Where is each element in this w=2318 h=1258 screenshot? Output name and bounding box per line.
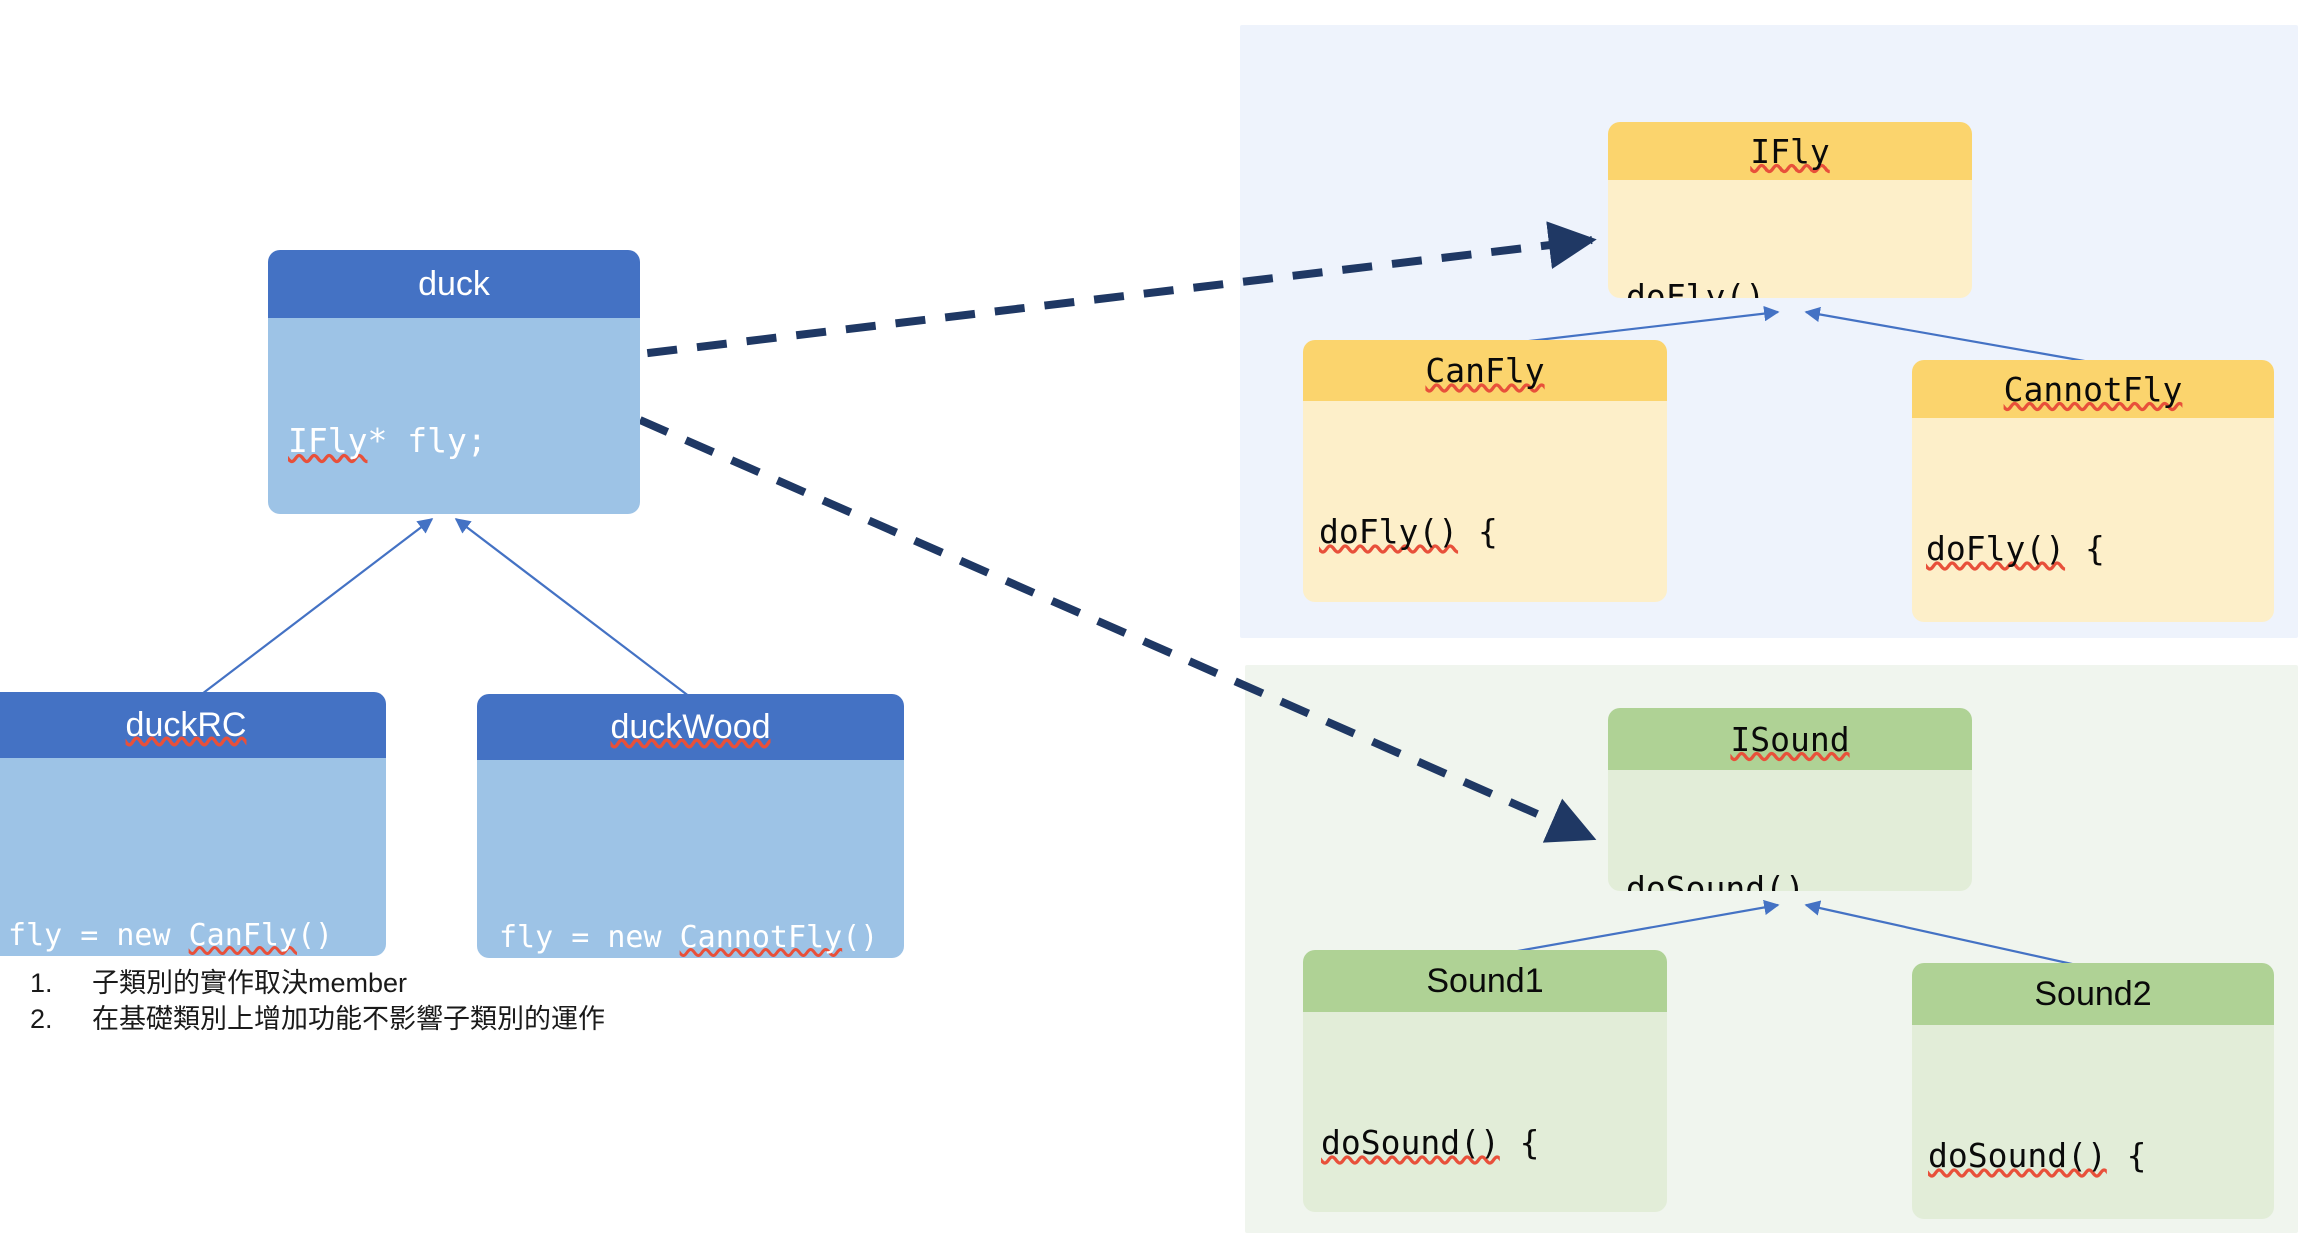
class-members-duckrc: fly = new CanFly() [0,758,386,956]
class-box-ifly[interactable]: IFly doFly() … [1608,122,1972,298]
class-box-canfly[interactable]: CanFly doFly() { “Can fly” } [1303,340,1667,602]
class-title-duck: duck [268,250,640,318]
class-box-duck[interactable]: duck IFly* fly; Isound* sound; … [268,250,640,514]
class-members-ifly: doFly() … [1608,180,1972,298]
class-title-sound1: Sound1 [1303,950,1667,1012]
edge-duckwood-to-duck [456,519,690,697]
class-members-isound: doSound() … [1608,770,1972,891]
class-members-canfly: doFly() { “Can fly” } [1303,401,1667,602]
member-line: fly = new CanFly() [8,916,386,955]
class-box-cannotfly[interactable]: CannotFly doFly() { “Cannot fly” } [1912,360,2274,622]
class-members-duck: IFly* fly; Isound* sound; … [268,318,640,514]
class-box-duckrc[interactable]: duckRC fly = new CanFly() [0,692,386,956]
note-item: 2. 在基礎類別上增加功能不影響子類別的運作 [30,1002,790,1038]
class-title-isound: ISound [1608,708,1972,770]
class-members-sound2: doSound() { “Sound2” } [1912,1025,2274,1219]
class-box-sound2[interactable]: Sound2 doSound() { “Sound2” } [1912,963,2274,1219]
member-line: fly = new CannotFly() [499,918,904,957]
class-members-sound1: doSound() { “Sound1” } [1303,1012,1667,1212]
member-line: doSound() [1626,868,1972,891]
note-text: 子類別的實作取決member [92,966,790,1002]
class-title-cannotfly: CannotFly [1912,360,2274,418]
class-title-ifly: IFly [1608,122,1972,180]
class-members-duckwood: fly = new CannotFly() [477,760,904,958]
member-line: doSound() { [1321,1121,1667,1165]
member-line: doFly() { [1926,527,2274,571]
member-line: IFly* fly; [288,420,640,462]
edge-duckrc-to-duck [198,519,432,697]
member-line: doSound() { [1928,1134,2274,1178]
class-title-sound2: Sound2 [1912,963,2274,1025]
class-box-sound1[interactable]: Sound1 doSound() { “Sound1” } [1303,950,1667,1212]
note-number: 1. [30,966,92,1002]
member-line: doFly() { [1319,510,1667,554]
class-title-canfly: CanFly [1303,340,1667,401]
class-title-duckwood: duckWood [477,694,904,760]
class-title-duckrc: duckRC [0,692,386,758]
note-number: 2. [30,1002,92,1038]
class-box-duckwood[interactable]: duckWood fly = new CannotFly() [477,694,904,958]
notes-list: 1. 子類別的實作取決member 2. 在基礎類別上增加功能不影響子類別的運作 [30,966,790,1037]
class-members-cannotfly: doFly() { “Cannot fly” } [1912,418,2274,622]
note-item: 1. 子類別的實作取決member [30,966,790,1002]
note-text: 在基礎類別上增加功能不影響子類別的運作 [92,1002,790,1038]
diagram-canvas: duck IFly* fly; Isound* sound; … duckRC … [0,0,2318,1258]
class-box-isound[interactable]: ISound doSound() … [1608,708,1972,891]
member-line: doFly() [1626,276,1972,298]
